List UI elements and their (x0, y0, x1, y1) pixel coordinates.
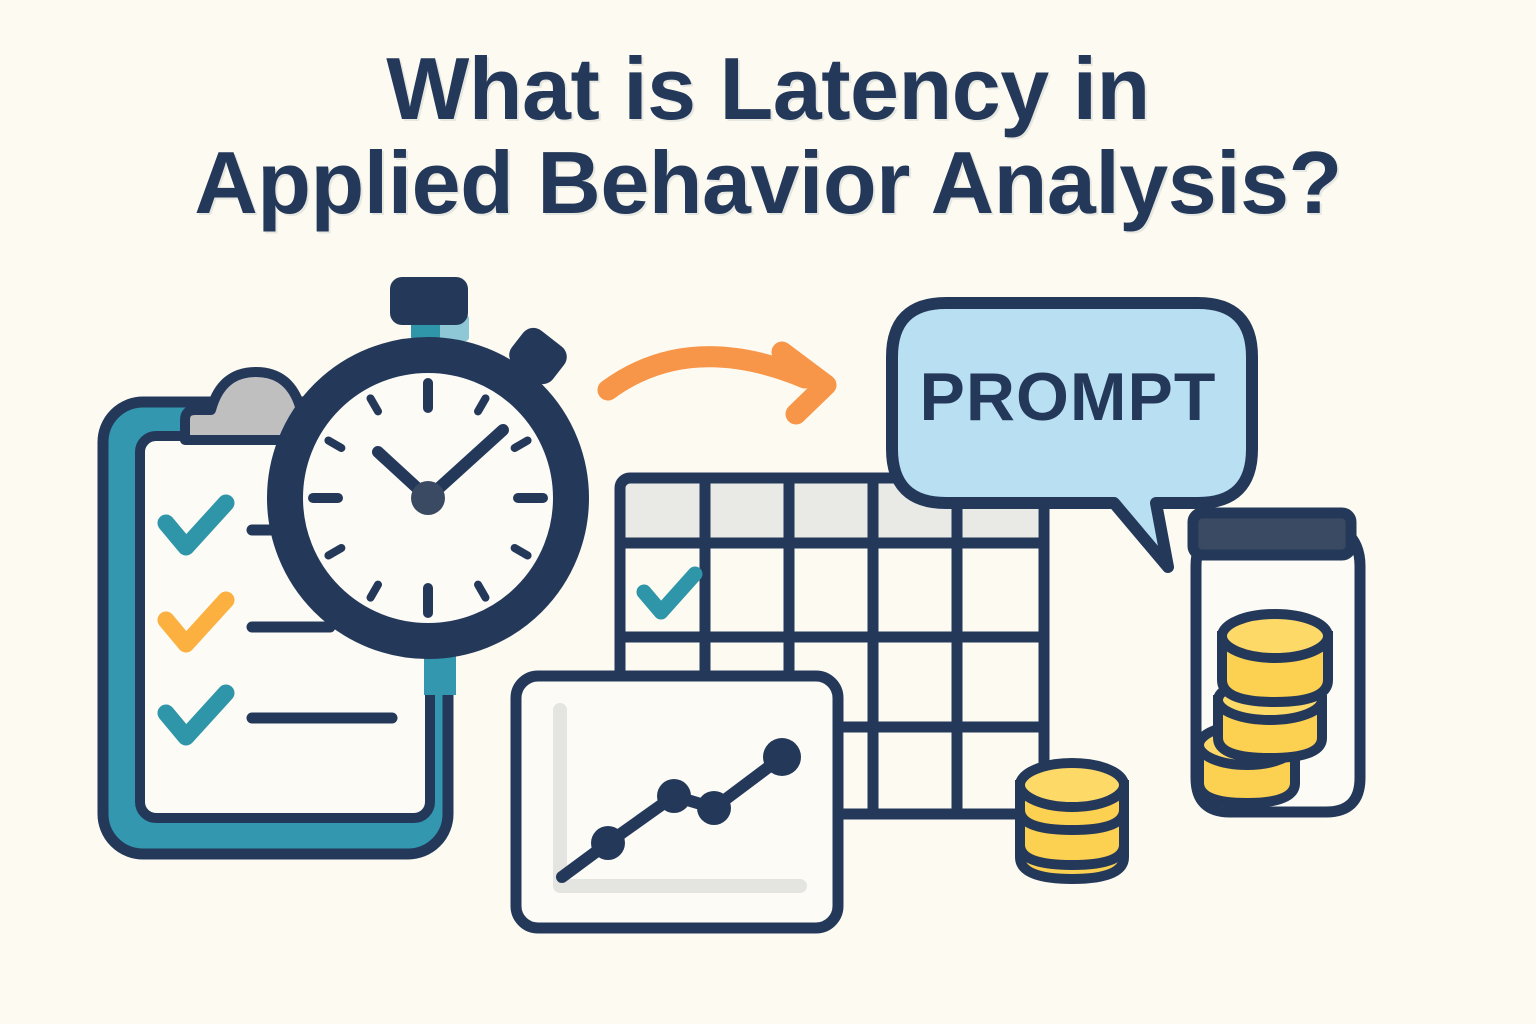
calendar-header-cell (792, 482, 870, 540)
chart-point (591, 826, 625, 860)
jar-coin-top (1222, 614, 1328, 658)
calendar-header-cell (624, 482, 702, 540)
illustration-canvas: What is Latency in Applied Behavior Anal… (0, 0, 1536, 1024)
calendar-header-cell (708, 482, 786, 540)
stopwatch-center-pin (411, 481, 445, 515)
coin-stack-top (1020, 763, 1124, 807)
prompt-label: PROMPT (920, 359, 1217, 435)
stopwatch-crown-button (390, 277, 468, 325)
chart-point (697, 791, 731, 825)
curved-arrow-icon (608, 352, 826, 414)
jar-lid (1193, 513, 1351, 555)
line-chart-card (516, 676, 838, 928)
coin-stack (1020, 763, 1124, 879)
chart-point (763, 738, 801, 776)
calendar-checkmark-icon (644, 574, 695, 612)
arrow-shaft (608, 357, 805, 390)
chart-point (657, 779, 691, 813)
coin-jar (1193, 513, 1360, 812)
illustration-artwork: PROMPT (0, 0, 1536, 1024)
